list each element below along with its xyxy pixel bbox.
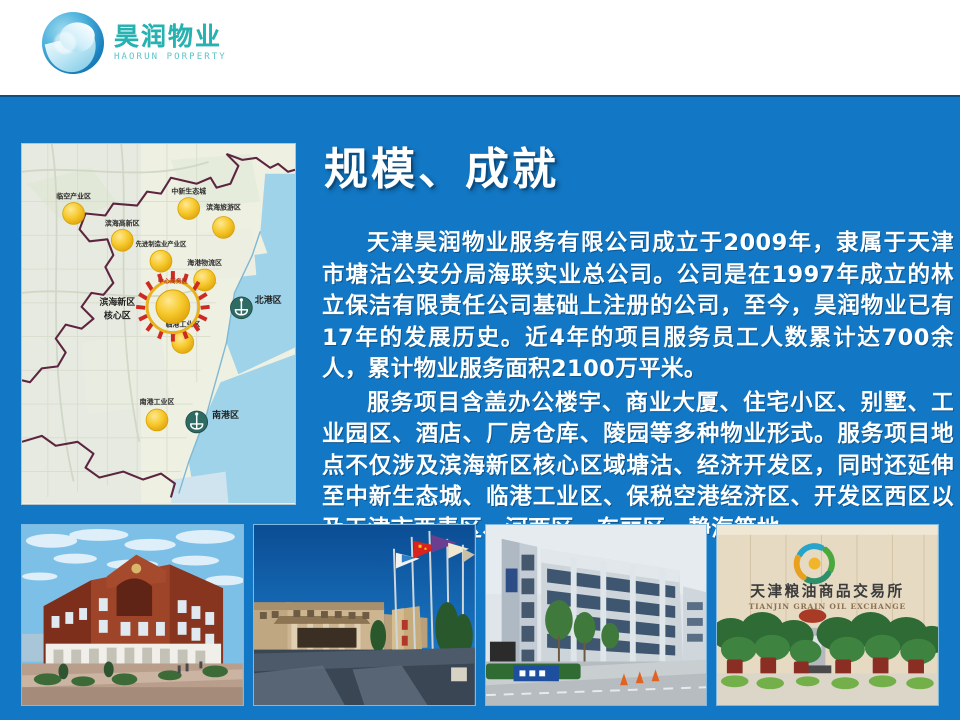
photo-industrial-park-building bbox=[485, 524, 708, 706]
logo-company-name-en: HAORUN PORPERTY bbox=[114, 52, 227, 62]
slide-header: 昊润物业 HAORUN PORPERTY bbox=[0, 0, 960, 97]
svg-text:天津粮油商品交易所: 天津粮油商品交易所 bbox=[751, 582, 905, 600]
slide-body-text: 天津昊润物业服务有限公司成立于2009年，隶属于天津市塘沽公安分局海联实业总公司… bbox=[322, 228, 954, 547]
photo-1-graphic bbox=[22, 525, 243, 705]
photo-3-graphic bbox=[486, 525, 707, 705]
svg-text:滨海新区: 滨海新区 bbox=[99, 296, 135, 308]
svg-text:TIANJIN GRAIN OIL EXCHANGE: TIANJIN GRAIN OIL EXCHANGE bbox=[749, 602, 906, 611]
presentation-slide: 昊润物业 HAORUN PORPERTY bbox=[0, 0, 960, 720]
svg-text:海港物流区: 海港物流区 bbox=[187, 258, 222, 267]
svg-text:滨海旅游区: 滨海旅游区 bbox=[206, 203, 241, 212]
photo-tianjin-grain-oil-exchange-lobby: 天津粮油商品交易所 TIANJIN GRAIN OIL EXCHANGE bbox=[716, 524, 939, 706]
svg-text:中心商务区: 中心商务区 bbox=[158, 277, 188, 285]
paragraph-service-scope: 服务项目含盖办公楼宇、商业大厦、住宅小区、别墅、工业园区、酒店、厂房仓库、陵园等… bbox=[322, 388, 954, 546]
svg-text:先进制造业产业区: 先进制造业产业区 bbox=[136, 239, 187, 248]
binhai-area-map: 临空产业区 滨海高新区 中新生态城 滨海旅游区 先进制造业产业区 海港物流区 bbox=[21, 143, 296, 505]
haorun-wave-circle-logo-icon bbox=[42, 12, 104, 74]
svg-text:北港区: 北港区 bbox=[255, 294, 282, 306]
photo-plaza-with-flagpoles bbox=[253, 524, 476, 706]
svg-text:中新生态城: 中新生态城 bbox=[171, 187, 206, 196]
svg-text:南港工业区: 南港工业区 bbox=[140, 397, 175, 406]
company-logo: 昊润物业 HAORUN PORPERTY bbox=[42, 12, 227, 74]
svg-text:南港区: 南港区 bbox=[212, 409, 239, 421]
paragraph-company-overview: 天津昊润物业服务有限公司成立于2009年，隶属于天津市塘沽公安分局海联实业总公司… bbox=[322, 228, 954, 386]
slide-title: 规模、成就 bbox=[324, 146, 559, 194]
svg-text:临空产业区: 临空产业区 bbox=[56, 192, 91, 201]
logo-text-block: 昊润物业 HAORUN PORPERTY bbox=[114, 23, 227, 64]
logo-company-name-cn: 昊润物业 bbox=[114, 23, 227, 50]
photo-2-graphic bbox=[254, 525, 475, 705]
photo-gallery-strip: 天津粮油商品交易所 TIANJIN GRAIN OIL EXCHANGE bbox=[21, 524, 939, 706]
svg-text:滨海高新区: 滨海高新区 bbox=[105, 218, 140, 227]
photo-4-graphic: 天津粮油商品交易所 TIANJIN GRAIN OIL EXCHANGE bbox=[717, 525, 938, 705]
svg-text:核心区: 核心区 bbox=[104, 310, 131, 322]
photo-red-brick-office-building bbox=[21, 524, 244, 706]
map-svg: 临空产业区 滨海高新区 中新生态城 滨海旅游区 先进制造业产业区 海港物流区 bbox=[22, 144, 295, 503]
